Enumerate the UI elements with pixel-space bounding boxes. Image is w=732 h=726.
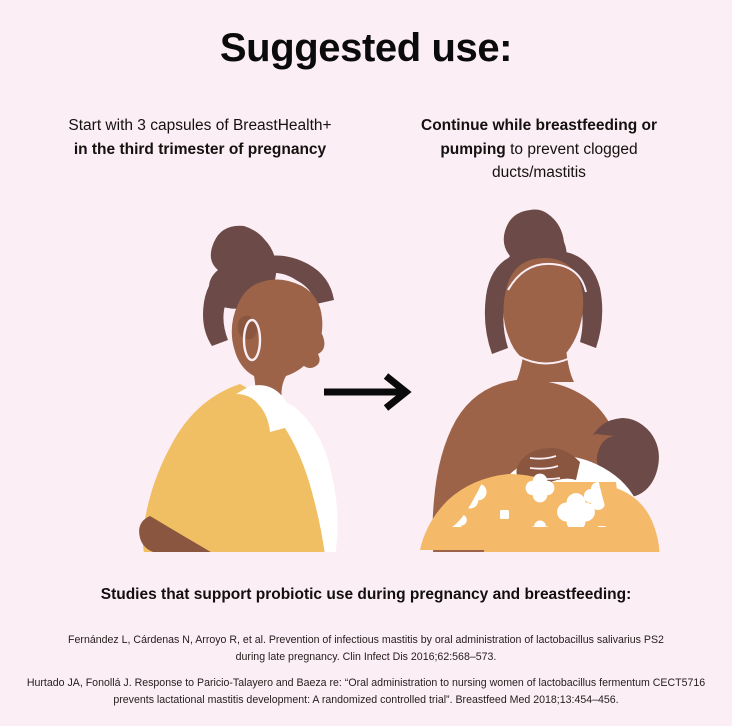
caption-pregnancy-bold: in the third trimester of pregnancy — [74, 141, 326, 158]
bf-skirt-right-sleeve — [607, 488, 660, 552]
caption-pregnancy-regular: Start with 3 capsules of BreastHealth+ — [68, 117, 331, 134]
studies-heading: Studies that support probiotic use durin… — [0, 586, 732, 604]
bf-head — [503, 258, 583, 365]
citation-2-line-1: Hurtado JA, Fonollá J. Response to Paric… — [27, 677, 650, 689]
citation-1: Fernández L, Cárdenas N, Arroyo R, et al… — [66, 632, 666, 666]
caption-pregnancy: Start with 3 capsules of BreastHealth+ i… — [64, 114, 336, 161]
page-title: Suggested use: — [0, 26, 732, 71]
breastfeeding-woman-illustration — [420, 210, 660, 553]
caption-breastfeeding-regular: to prevent clogged ducts/mastitis — [492, 141, 638, 182]
citation-1-line-1: Fernández L, Cárdenas N, Arroyo R, et al… — [68, 634, 533, 646]
pregnant-woman-illustration — [139, 226, 340, 552]
caption-breastfeeding: Continue while breastfeeding or pumping … — [398, 114, 680, 185]
infographic-page: Suggested use: Start with 3 capsules of … — [0, 0, 732, 726]
progression-arrow — [318, 372, 416, 412]
citation-2: Hurtado JA, Fonollá J. Response to Paric… — [14, 675, 718, 709]
right-arrow-icon — [324, 376, 406, 408]
